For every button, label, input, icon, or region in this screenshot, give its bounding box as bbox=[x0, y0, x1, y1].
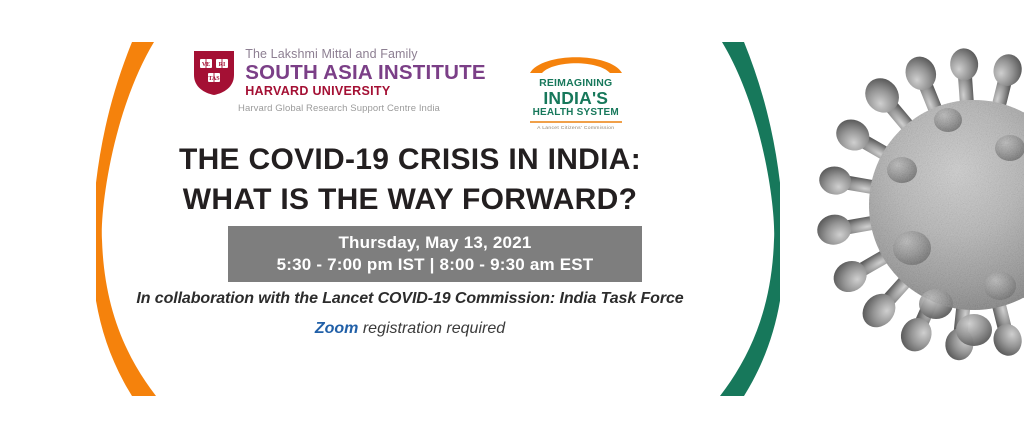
event-banner: VE RI TAS The Lakshmi Mittal and Family … bbox=[0, 0, 1024, 438]
event-title-line-1: THE COVID-19 CRISIS IN INDIA: bbox=[0, 140, 820, 180]
harvard-south-asia-institute-logo: VE RI TAS The Lakshmi Mittal and Family … bbox=[192, 48, 486, 114]
reimagining-logo-line-2: INDIA'S bbox=[543, 89, 608, 107]
zoom-link[interactable]: Zoom bbox=[315, 320, 359, 337]
reimagining-logo-divider bbox=[530, 121, 622, 123]
event-title-line-2: WHAT IS THE WAY FORWARD? bbox=[0, 180, 820, 220]
coronavirus-image bbox=[814, 0, 1024, 438]
event-title: THE COVID-19 CRISIS IN INDIA: WHAT IS TH… bbox=[0, 140, 820, 219]
harvard-logo-line-3: HARVARD UNIVERSITY bbox=[245, 85, 486, 98]
harvard-logo-caption: Harvard Global Research Support Centre I… bbox=[238, 103, 440, 114]
event-datetime-box: Thursday, May 13, 2021 5:30 - 7:00 pm IS… bbox=[228, 226, 642, 282]
reimagining-logo-line-4: A Lancet Citizens' Commission bbox=[537, 125, 614, 131]
harvard-logo-line-2: SOUTH ASIA INSTITUTE bbox=[245, 62, 486, 84]
reimagining-logo-line-3: HEALTH SYSTEM bbox=[533, 107, 619, 118]
zoom-registration-text: registration required bbox=[358, 320, 505, 337]
zoom-registration-note: Zoom registration required bbox=[0, 320, 820, 338]
harvard-shield-icon: VE RI TAS bbox=[192, 49, 236, 97]
event-date: Thursday, May 13, 2021 bbox=[338, 233, 531, 253]
reimagining-indias-health-system-logo: REIMAGINING INDIA'S HEALTH SYSTEM A Lanc… bbox=[524, 48, 628, 131]
collaboration-note: In collaboration with the Lancet COVID-1… bbox=[0, 290, 820, 308]
logo-row: VE RI TAS The Lakshmi Mittal and Family … bbox=[0, 48, 820, 131]
harvard-logo-line-1: The Lakshmi Mittal and Family bbox=[245, 48, 486, 61]
orange-arc-icon bbox=[528, 50, 624, 74]
event-time: 5:30 - 7:00 pm IST | 8:00 - 9:30 am EST bbox=[277, 255, 594, 275]
